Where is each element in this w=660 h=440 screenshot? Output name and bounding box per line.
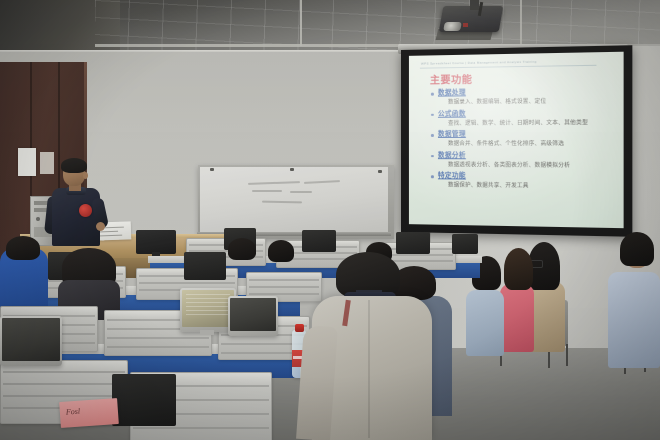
projector-mount bbox=[470, 0, 479, 10]
student-hair bbox=[228, 238, 256, 260]
presenter-hand bbox=[96, 222, 105, 231]
projected-slide: WPS Spreadsheet Course | Data Management… bbox=[409, 52, 624, 228]
monitor-rear bbox=[302, 230, 336, 252]
ceiling-beam-vertical bbox=[520, 0, 522, 46]
attendee-hair bbox=[504, 248, 533, 290]
pink-card-text: Fosl bbox=[66, 407, 81, 417]
monitor-rear bbox=[452, 234, 478, 254]
student-hair bbox=[268, 240, 294, 262]
water-bottle-cap bbox=[295, 324, 304, 332]
wall-paper-sign bbox=[18, 148, 36, 176]
projector-lens bbox=[443, 22, 462, 31]
projector-light-glow bbox=[409, 52, 624, 228]
teacher-monitor-rear bbox=[136, 230, 176, 254]
projection-screen: WPS Spreadsheet Course | Data Management… bbox=[401, 45, 632, 237]
monitor-stand bbox=[200, 330, 214, 335]
student-monitor bbox=[228, 296, 278, 336]
student-hair bbox=[6, 236, 40, 260]
presenter-ear bbox=[83, 172, 88, 179]
attendee-hair bbox=[620, 232, 654, 266]
monitor-rear-foreground bbox=[112, 374, 176, 426]
presenter-shirt-logo bbox=[79, 204, 92, 217]
whiteboard-clip bbox=[210, 168, 214, 171]
attendee-body bbox=[466, 290, 504, 356]
attendee-body bbox=[608, 272, 660, 368]
attendee-body bbox=[500, 284, 534, 352]
projector-indicator-light bbox=[463, 23, 468, 27]
whiteboard-writing bbox=[252, 190, 282, 192]
monitor-screen bbox=[230, 298, 276, 331]
monitor-rear bbox=[396, 232, 430, 254]
desk-pink-card: Fosl bbox=[59, 398, 119, 428]
monitor-screen bbox=[182, 290, 234, 327]
whiteboard-clip bbox=[290, 168, 294, 171]
presenter-hair bbox=[61, 158, 87, 173]
whiteboard-clip bbox=[378, 170, 382, 173]
classroom-photo: WPS Spreadsheet Course | Data Management… bbox=[0, 0, 660, 440]
monitor-rear bbox=[184, 252, 226, 280]
whiteboard-surface bbox=[200, 167, 388, 233]
chair-leg bbox=[566, 344, 568, 366]
monitor-screen bbox=[2, 318, 60, 361]
student-monitor bbox=[0, 316, 62, 366]
ceiling-beam-vertical bbox=[300, 0, 302, 46]
jacket-seam bbox=[368, 300, 370, 438]
wall-paper-sign bbox=[40, 152, 54, 174]
whiteboard-writing bbox=[290, 191, 312, 193]
presenter-torso bbox=[52, 188, 100, 246]
